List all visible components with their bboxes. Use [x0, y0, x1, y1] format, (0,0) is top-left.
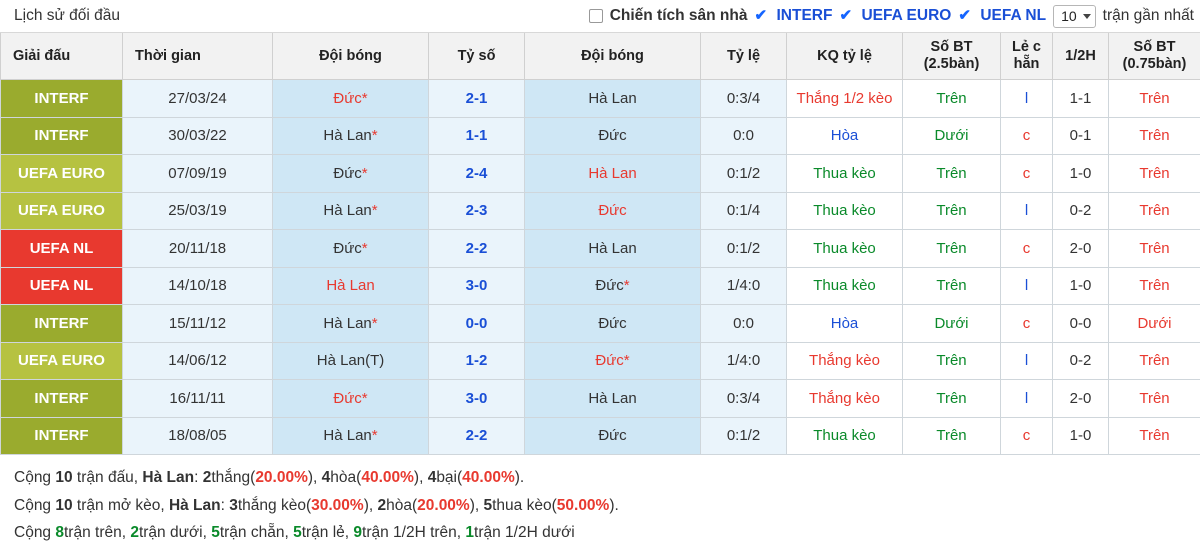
table-row[interactable]: INTERF18/08/05Hà Lan*2-2Đức0:1/2Thua kèo… [1, 417, 1200, 455]
cell-score: 2-2 [429, 230, 525, 268]
cell-ou-25: Trên [903, 267, 1001, 305]
cell-ou-075: Trên [1109, 342, 1200, 380]
cell-odds: 1/4:0 [701, 267, 787, 305]
cell-league: INTERF [1, 80, 123, 118]
summary-token: 40.00% [361, 469, 414, 486]
summary-token: ), [470, 497, 484, 514]
cell-home-team: Hà Lan* [273, 192, 429, 230]
cell-odds-result: Hòa [787, 117, 903, 155]
cell-ou-25: Trên [903, 192, 1001, 230]
col-odd-even: Lẻ c hẵn [1001, 33, 1053, 80]
cell-ou-075: Dưới [1109, 305, 1200, 343]
cell-league: INTERF [1, 417, 123, 455]
col-time: Thời gian [123, 33, 273, 80]
cell-league: UEFA EURO [1, 155, 123, 193]
cell-odds-result: Thua kèo [787, 230, 903, 268]
cell-league: INTERF [1, 305, 123, 343]
col-away-team: Đội bóng [525, 33, 701, 80]
summary-token: 4 [322, 469, 331, 486]
table-row[interactable]: UEFA NL14/10/18Hà Lan3-0Đức*1/4:0Thua kè… [1, 267, 1200, 305]
chevron-down-icon [1083, 14, 1091, 19]
summary-token: hòa( [386, 497, 417, 514]
summary-token: thua kèo( [492, 497, 557, 514]
summary-token: ), [414, 469, 428, 486]
cell-ou-075: Trên [1109, 267, 1200, 305]
cell-date: 15/11/12 [123, 305, 273, 343]
cell-odds: 0:0 [701, 117, 787, 155]
summary-token: Hà Lan [142, 469, 194, 486]
summary-token: Cộng [14, 469, 55, 486]
filter-label-interf[interactable]: INTERF [777, 7, 833, 25]
summary-token: ). [515, 469, 524, 486]
cell-home-team: Hà Lan [273, 267, 429, 305]
table-row[interactable]: INTERF16/11/11Đức*3-0Hà Lan0:3/4Thắng kè… [1, 380, 1200, 418]
cell-odds-result: Thắng 1/2 kèo [787, 80, 903, 118]
cell-odds: 0:1/2 [701, 417, 787, 455]
filter-group: Chiến tích sân nhà INTERF UEFA EURO UEFA… [589, 5, 1194, 28]
cell-away-team: Đức [525, 117, 701, 155]
filter-label-home-record[interactable]: Chiến tích sân nhà [610, 7, 748, 25]
summary-token: 5 [293, 524, 302, 541]
summary-token: Cộng [14, 524, 55, 541]
cell-away-team: Hà Lan [525, 80, 701, 118]
cell-date: 14/06/12 [123, 342, 273, 380]
cell-score: 3-0 [429, 267, 525, 305]
cell-half: 1-0 [1053, 267, 1109, 305]
cell-ou-25: Trên [903, 80, 1001, 118]
cell-odds: 0:1/2 [701, 230, 787, 268]
summary-token: trận trên, [64, 524, 130, 541]
summary-token: 2 [130, 524, 139, 541]
cell-away-team: Đức [525, 192, 701, 230]
filter-label-uefa-nl[interactable]: UEFA NL [980, 7, 1046, 25]
cell-date: 20/11/18 [123, 230, 273, 268]
cell-half: 2-0 [1053, 230, 1109, 268]
cell-league: INTERF [1, 117, 123, 155]
cell-away-team: Đức [525, 417, 701, 455]
cell-ou-075: Trên [1109, 192, 1200, 230]
col-score: Tỷ số [429, 33, 525, 80]
col-league: Giải đấu [1, 33, 123, 80]
cell-date: 18/08/05 [123, 417, 273, 455]
cell-half: 0-0 [1053, 305, 1109, 343]
summary-line-odds: Cộng 10 trận mở kèo, Hà Lan: 3thắng kèo(… [14, 492, 1186, 520]
checkbox-interf[interactable] [755, 9, 770, 24]
cell-half: 1-1 [1053, 80, 1109, 118]
cell-ou-25: Trên [903, 230, 1001, 268]
cell-half: 0-1 [1053, 117, 1109, 155]
cell-date: 16/11/11 [123, 380, 273, 418]
summary-token: : [194, 469, 203, 486]
summary-token: 5 [484, 497, 493, 514]
cell-odds: 0:0 [701, 305, 787, 343]
filter-label-uefa-euro[interactable]: UEFA EURO [861, 7, 951, 25]
page-root: Lịch sử đối đầu Chiến tích sân nhà INTER… [0, 0, 1200, 530]
cell-odds-result: Thua kèo [787, 417, 903, 455]
cell-home-team: Đức* [273, 80, 429, 118]
summary-block: Cộng 10 trận đấu, Hà Lan: 2thắng(20.00%)… [0, 455, 1200, 547]
cell-odds-result: Thua kèo [787, 192, 903, 230]
cell-odd-even: l [1001, 192, 1053, 230]
cell-date: 25/03/19 [123, 192, 273, 230]
cell-date: 14/10/18 [123, 267, 273, 305]
summary-token: 30.00% [311, 497, 364, 514]
table-row[interactable]: INTERF15/11/12Hà Lan*0-0Đức0:0HòaDướic0-… [1, 305, 1200, 343]
summary-token: 3 [229, 497, 238, 514]
cell-home-team: Đức* [273, 230, 429, 268]
summary-token: 9 [353, 524, 362, 541]
cell-ou-25: Trên [903, 155, 1001, 193]
cell-odds: 0:3/4 [701, 380, 787, 418]
cell-odd-even: c [1001, 305, 1053, 343]
cell-ou-25: Dưới [903, 117, 1001, 155]
table-row[interactable]: INTERF27/03/24Đức*2-1Hà Lan0:3/4Thắng 1/… [1, 80, 1200, 118]
table-row[interactable]: UEFA EURO07/09/19Đức*2-4Hà Lan0:1/2Thua … [1, 155, 1200, 193]
summary-token: : [221, 497, 230, 514]
cell-half: 1-0 [1053, 155, 1109, 193]
cell-odds-result: Hòa [787, 305, 903, 343]
cell-odd-even: c [1001, 230, 1053, 268]
cell-home-team: Hà Lan(T) [273, 342, 429, 380]
cell-ou-075: Trên [1109, 155, 1200, 193]
cell-ou-075: Trên [1109, 80, 1200, 118]
summary-token: thắng( [211, 469, 255, 486]
checkbox-uefa-nl[interactable] [958, 9, 973, 24]
cell-date: 27/03/24 [123, 80, 273, 118]
cell-date: 30/03/22 [123, 117, 273, 155]
cell-league: UEFA NL [1, 230, 123, 268]
summary-token: trận 1/2H trên, [362, 524, 465, 541]
cell-odd-even: c [1001, 117, 1053, 155]
cell-league: INTERF [1, 380, 123, 418]
cell-odd-even: l [1001, 80, 1053, 118]
summary-token: 10 [55, 497, 72, 514]
cell-date: 07/09/19 [123, 155, 273, 193]
cell-odds: 1/4:0 [701, 342, 787, 380]
cell-odds-result: Thua kèo [787, 155, 903, 193]
cell-home-team: Hà Lan* [273, 417, 429, 455]
page-title: Lịch sử đối đầu [14, 7, 120, 25]
col-home-team: Đội bóng [273, 33, 429, 80]
cell-away-team: Hà Lan [525, 155, 701, 193]
cell-odds-result: Thua kèo [787, 267, 903, 305]
cell-home-team: Hà Lan* [273, 305, 429, 343]
col-half: 1/2H [1053, 33, 1109, 80]
cell-away-team: Đức [525, 305, 701, 343]
table-row[interactable]: UEFA EURO14/06/12Hà Lan(T)1-2Đức*1/4:0Th… [1, 342, 1200, 380]
summary-token: ), [308, 469, 322, 486]
cell-odds: 0:3/4 [701, 80, 787, 118]
summary-line-results: Cộng 10 trận đấu, Hà Lan: 2thắng(20.00%)… [14, 464, 1186, 492]
cell-score: 1-1 [429, 117, 525, 155]
summary-token: trận 1/2H dưới [474, 524, 575, 541]
cell-odd-even: l [1001, 380, 1053, 418]
summary-token: bại( [436, 469, 462, 486]
match-count-value: 10 [1061, 8, 1077, 24]
cell-ou-075: Trên [1109, 117, 1200, 155]
cell-score: 0-0 [429, 305, 525, 343]
col-ou-25: Số BT (2.5bàn) [903, 33, 1001, 80]
cell-ou-25: Trên [903, 342, 1001, 380]
cell-half: 0-2 [1053, 192, 1109, 230]
cell-league: UEFA EURO [1, 342, 123, 380]
cell-league: UEFA NL [1, 267, 123, 305]
cell-score: 2-1 [429, 80, 525, 118]
cell-odd-even: l [1001, 342, 1053, 380]
cell-odds-result: Thắng kèo [787, 342, 903, 380]
cell-ou-075: Trên [1109, 230, 1200, 268]
cell-league: UEFA EURO [1, 192, 123, 230]
table-row[interactable]: UEFA NL20/11/18Đức*2-2Hà Lan0:1/2Thua kè… [1, 230, 1200, 268]
summary-line-ou: Cộng 8trận trên, 2trận dưới, 5trận chẵn,… [14, 519, 1186, 547]
summary-token: 20.00% [417, 497, 470, 514]
summary-token: 8 [55, 524, 64, 541]
cell-home-team: Đức* [273, 380, 429, 418]
cell-half: 0-2 [1053, 342, 1109, 380]
cell-ou-25: Trên [903, 380, 1001, 418]
col-odds-result: KQ tỷ lệ [787, 33, 903, 80]
cell-away-team: Hà Lan [525, 380, 701, 418]
cell-away-team: Đức* [525, 267, 701, 305]
summary-token: ), [364, 497, 378, 514]
table-body: INTERF27/03/24Đức*2-1Hà Lan0:3/4Thắng 1/… [1, 80, 1200, 455]
toolbar: Lịch sử đối đầu Chiến tích sân nhà INTER… [0, 0, 1200, 33]
match-count-select[interactable]: 10 [1053, 5, 1096, 28]
cell-ou-25: Trên [903, 417, 1001, 455]
summary-token: 40.00% [462, 469, 515, 486]
head-to-head-table: Giải đấu Thời gian Đội bóng Tỷ số Đội bó… [0, 33, 1200, 455]
cell-home-team: Hà Lan* [273, 117, 429, 155]
summary-token: ). [609, 497, 618, 514]
summary-token: 1 [465, 524, 474, 541]
summary-token: hòa( [330, 469, 361, 486]
cell-odd-even: l [1001, 267, 1053, 305]
cell-score: 2-3 [429, 192, 525, 230]
table-row[interactable]: INTERF30/03/22Hà Lan*1-1Đức0:0HòaDướic0-… [1, 117, 1200, 155]
cell-home-team: Đức* [273, 155, 429, 193]
cell-away-team: Đức* [525, 342, 701, 380]
summary-token: 10 [55, 469, 72, 486]
table-header-row: Giải đấu Thời gian Đội bóng Tỷ số Đội bó… [1, 33, 1200, 80]
cell-ou-075: Trên [1109, 417, 1200, 455]
summary-token: trận lẻ, [302, 524, 354, 541]
summary-token: 5 [211, 524, 220, 541]
table-row[interactable]: UEFA EURO25/03/19Hà Lan*2-3Đức0:1/4Thua … [1, 192, 1200, 230]
cell-odds: 0:1/4 [701, 192, 787, 230]
cell-odd-even: c [1001, 155, 1053, 193]
checkbox-uefa-euro[interactable] [839, 9, 854, 24]
summary-token: 20.00% [255, 469, 308, 486]
cell-ou-25: Dưới [903, 305, 1001, 343]
summary-token: 50.00% [557, 497, 610, 514]
cell-away-team: Hà Lan [525, 230, 701, 268]
summary-token: trận mở kèo, [73, 497, 169, 514]
cell-odds-result: Thắng kèo [787, 380, 903, 418]
summary-token: 2 [377, 497, 386, 514]
summary-token: Cộng [14, 497, 55, 514]
cell-odds: 0:1/2 [701, 155, 787, 193]
cell-odd-even: c [1001, 417, 1053, 455]
col-odds: Tỷ lệ [701, 33, 787, 80]
summary-token: Hà Lan [169, 497, 221, 514]
summary-token: thắng kèo( [238, 497, 311, 514]
cell-half: 1-0 [1053, 417, 1109, 455]
summary-token: trận đấu, [73, 469, 143, 486]
match-count-suffix: trận gần nhất [1103, 7, 1194, 25]
cell-ou-075: Trên [1109, 380, 1200, 418]
col-ou-075: Số BT (0.75bàn) [1109, 33, 1200, 80]
cell-half: 2-0 [1053, 380, 1109, 418]
cell-score: 2-4 [429, 155, 525, 193]
cell-score: 2-2 [429, 417, 525, 455]
checkbox-home-record[interactable] [589, 9, 603, 23]
cell-score: 1-2 [429, 342, 525, 380]
summary-token: trận chẵn, [220, 524, 293, 541]
summary-token: trận dưới, [139, 524, 211, 541]
cell-score: 3-0 [429, 380, 525, 418]
